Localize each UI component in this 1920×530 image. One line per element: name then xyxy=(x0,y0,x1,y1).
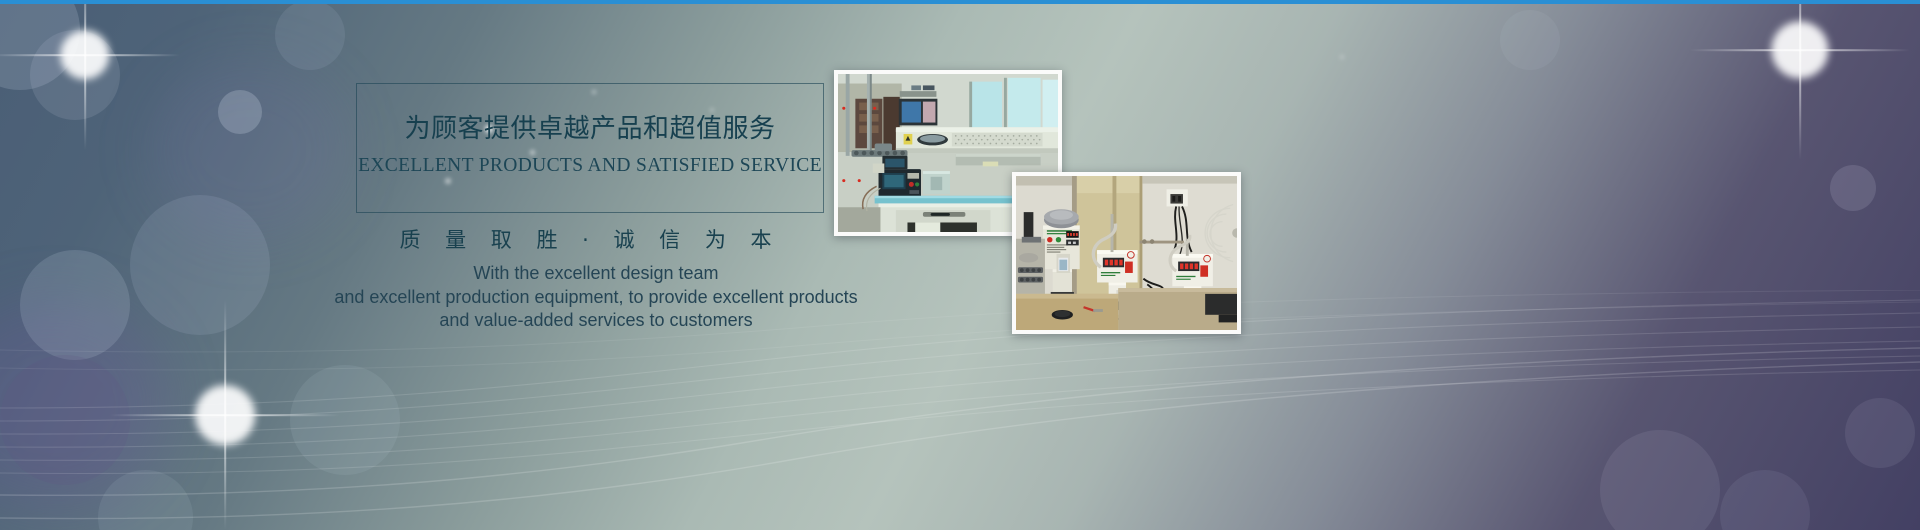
bokeh-circle xyxy=(30,30,120,120)
headline-english: EXCELLENT PRODUCTS AND SATISFIED SERVICE xyxy=(356,155,824,177)
bokeh-circle xyxy=(1845,398,1915,468)
press-machines-photo[interactable] xyxy=(1012,172,1241,334)
bokeh-circle xyxy=(0,355,130,485)
promotional-banner: 为顾客提供卓越产品和超值服务 EXCELLENT PRODUCTS AND SA… xyxy=(0,0,1920,530)
haze-blob xyxy=(150,60,350,240)
bokeh-circle xyxy=(275,0,345,70)
bokeh-circle xyxy=(98,470,193,530)
bokeh-circle xyxy=(290,365,400,475)
bokeh-circle xyxy=(20,250,130,360)
description-line: and excellent production equipment, to p… xyxy=(296,286,896,310)
description-paragraph: With the excellent design team and excel… xyxy=(296,262,896,333)
bokeh-circle xyxy=(0,0,80,90)
wave-lines-decoration xyxy=(0,290,1920,530)
bokeh-circle xyxy=(130,195,270,335)
description-line: With the excellent design team xyxy=(296,262,896,286)
headline-frame xyxy=(356,83,824,213)
bokeh-circle xyxy=(1830,165,1876,211)
haze-blob xyxy=(0,300,170,510)
bokeh-circle xyxy=(1500,10,1560,70)
description-line: and value-added services to customers xyxy=(296,309,896,333)
bokeh-circle xyxy=(1600,430,1720,530)
press-machines-image xyxy=(1016,176,1237,330)
bokeh-circle xyxy=(1720,470,1810,530)
top-accent-rule xyxy=(0,0,1920,4)
glow-dot xyxy=(1340,55,1344,59)
sparkle-flare xyxy=(0,0,180,150)
bokeh-circle xyxy=(218,90,262,134)
slogan-chinese: 质 量 取 胜 · 诚 信 为 本 xyxy=(356,224,824,254)
sparkle-flare xyxy=(1690,0,1910,160)
sparkle-flare xyxy=(110,300,340,530)
headline-chinese: 为顾客提供卓越产品和超值服务 xyxy=(356,108,824,145)
